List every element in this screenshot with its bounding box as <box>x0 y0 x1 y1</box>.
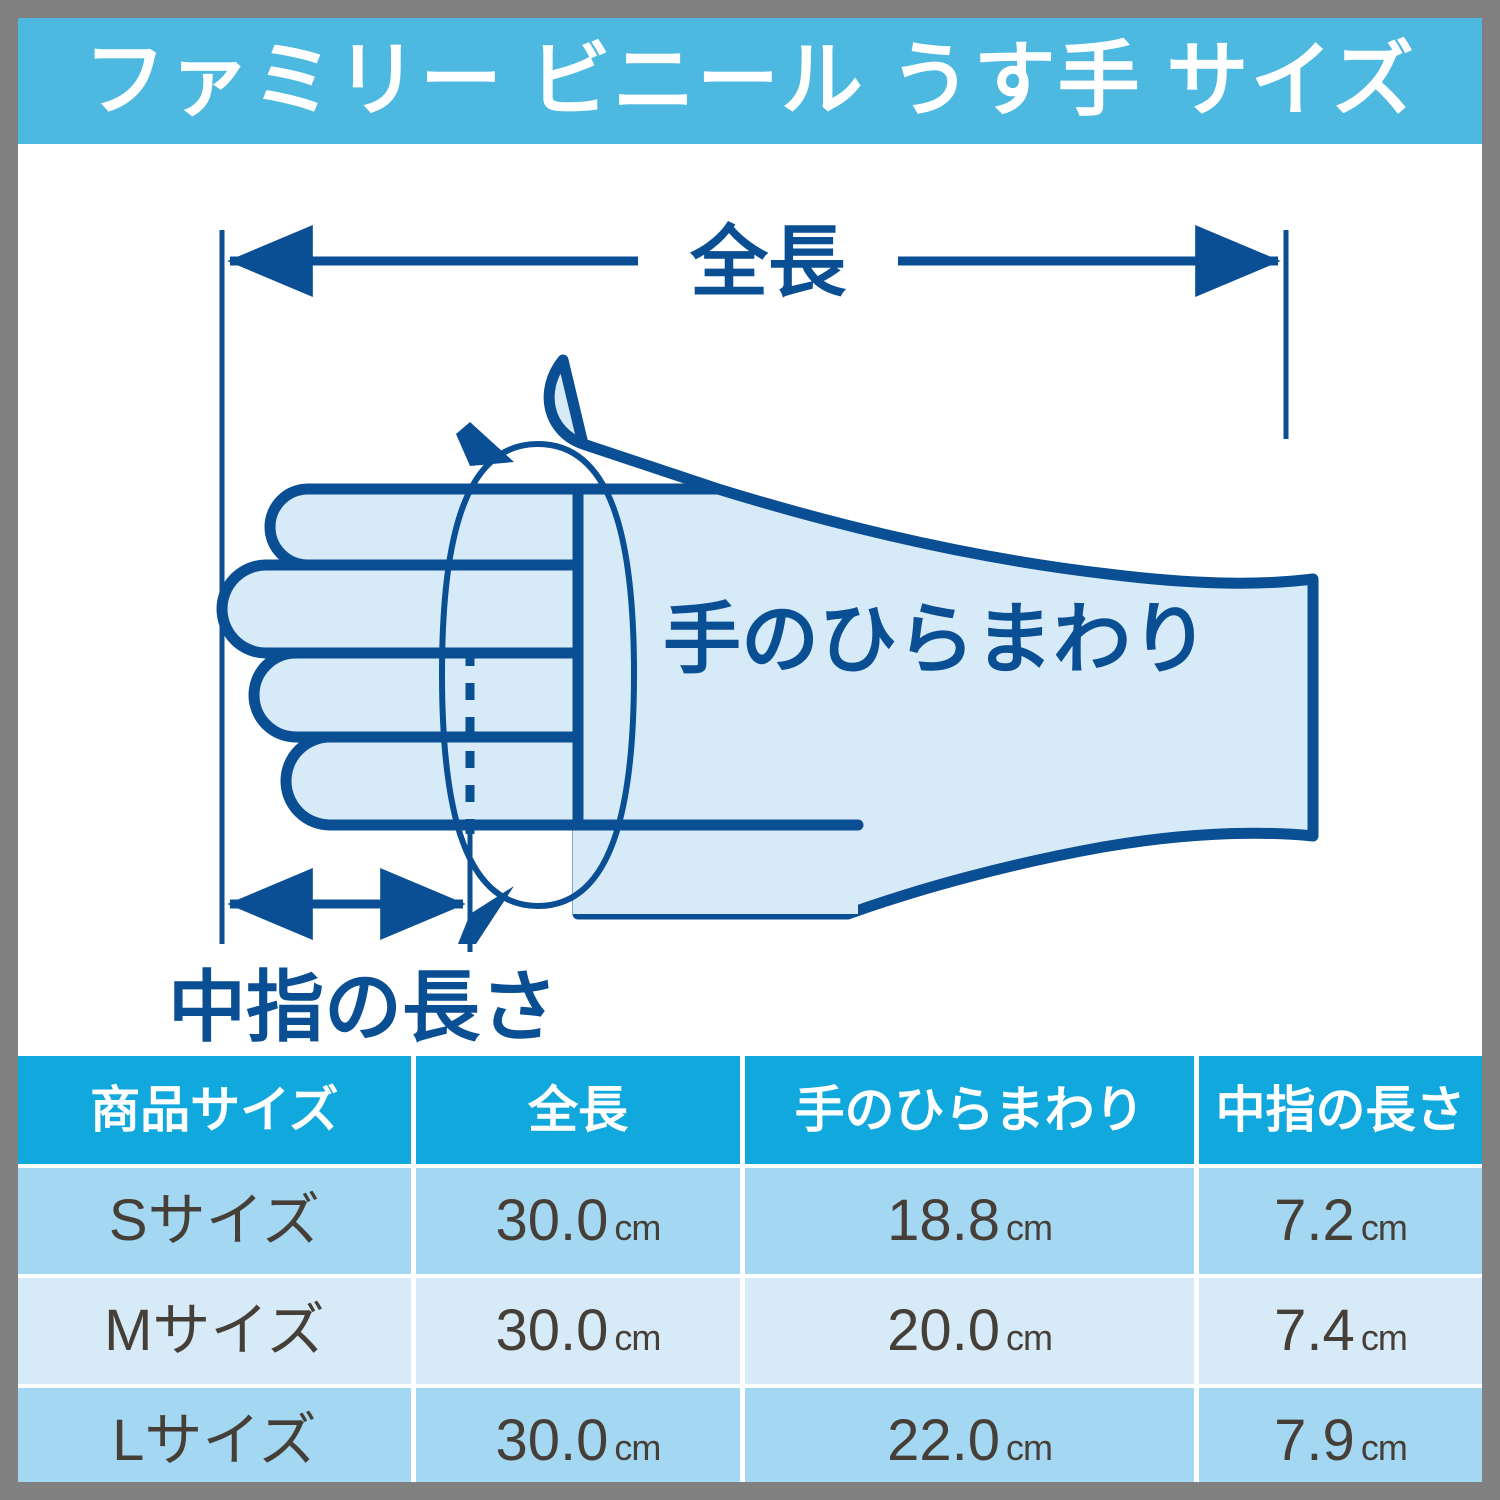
cell-size: Lサイズ <box>18 1386 413 1494</box>
cell-finger-unit: cm <box>1361 1207 1407 1248</box>
cell-size: Sサイズ <box>18 1166 413 1276</box>
cell-palm-value: 20.0 <box>887 1302 1000 1360</box>
table-header-row: 商品サイズ 全長 手のひらまわり 中指の長さ <box>18 1056 1482 1166</box>
column-header-product-size: 商品サイズ <box>18 1056 413 1166</box>
cell-finger: 7.2cm <box>1196 1166 1482 1276</box>
cell-palm-value: 22.0 <box>887 1412 1000 1470</box>
cell-finger-unit: cm <box>1361 1427 1407 1468</box>
glove-diagram: 全長 手のひらまわり 中指の長さ <box>18 144 1482 1056</box>
cell-palm-unit: cm <box>1006 1317 1052 1358</box>
cell-total-length-unit: cm <box>614 1207 660 1248</box>
cell-finger-value: 7.9 <box>1274 1412 1355 1470</box>
table-row: Lサイズ 30.0cm 22.0cm 7.9cm <box>18 1386 1482 1494</box>
cell-palm-unit: cm <box>1006 1427 1052 1468</box>
cell-finger: 7.4cm <box>1196 1276 1482 1386</box>
column-header-middle-finger-length: 中指の長さ <box>1196 1056 1482 1166</box>
cell-total-length: 30.0cm <box>413 1386 742 1494</box>
column-header-total-length: 全長 <box>413 1056 742 1166</box>
page-title: ファミリー ビニール うす手 サイズ <box>84 40 1416 122</box>
cell-finger-value: 7.4 <box>1274 1302 1355 1360</box>
finger-ring <box>254 653 578 737</box>
cell-palm-value: 18.8 <box>887 1192 1000 1250</box>
size-table: 商品サイズ 全長 手のひらまわり 中指の長さ Sサイズ 30.0cm 18.8c… <box>18 1056 1482 1494</box>
cell-palm: 20.0cm <box>743 1276 1197 1386</box>
total-length-label: 全長 <box>689 218 847 306</box>
middle-finger-label: 中指の長さ <box>168 963 558 1051</box>
glove-diagram-svg: 全長 手のひらまわり 中指の長さ <box>18 144 1482 1056</box>
size-table-container: 商品サイズ 全長 手のひらまわり 中指の長さ Sサイズ 30.0cm 18.8c… <box>18 1056 1482 1482</box>
cell-finger-unit: cm <box>1361 1317 1407 1358</box>
finger-pinky <box>286 737 578 825</box>
finger-index <box>270 489 578 565</box>
cell-size: Mサイズ <box>18 1276 413 1386</box>
cell-total-length-value: 30.0 <box>496 1302 609 1360</box>
finger-middle <box>222 565 578 653</box>
cell-total-length: 30.0cm <box>413 1276 742 1386</box>
cell-total-length-value: 30.0 <box>496 1412 609 1470</box>
palm-circumference-arrow-bottom <box>458 886 514 944</box>
cell-palm-unit: cm <box>1006 1207 1052 1248</box>
cell-palm: 18.8cm <box>743 1166 1197 1276</box>
cell-total-length: 30.0cm <box>413 1166 742 1276</box>
column-header-palm-circumference: 手のひらまわり <box>743 1056 1197 1166</box>
size-chart-page: ファミリー ビニール うす手 サイズ 全長 <box>0 0 1500 1500</box>
cell-total-length-value: 30.0 <box>496 1192 609 1250</box>
cell-total-length-unit: cm <box>614 1317 660 1358</box>
palm-circumference-arrow-top <box>456 422 514 466</box>
palm-circumference-label: 手のひらまわり <box>663 595 1209 683</box>
cell-total-length-unit: cm <box>614 1427 660 1468</box>
cell-finger: 7.9cm <box>1196 1386 1482 1494</box>
table-row: Mサイズ 30.0cm 20.0cm 7.4cm <box>18 1276 1482 1386</box>
header-bar: ファミリー ビニール うす手 サイズ <box>18 18 1482 144</box>
cell-finger-value: 7.2 <box>1274 1192 1355 1250</box>
table-row: Sサイズ 30.0cm 18.8cm 7.2cm <box>18 1166 1482 1276</box>
cell-palm: 22.0cm <box>743 1386 1197 1494</box>
